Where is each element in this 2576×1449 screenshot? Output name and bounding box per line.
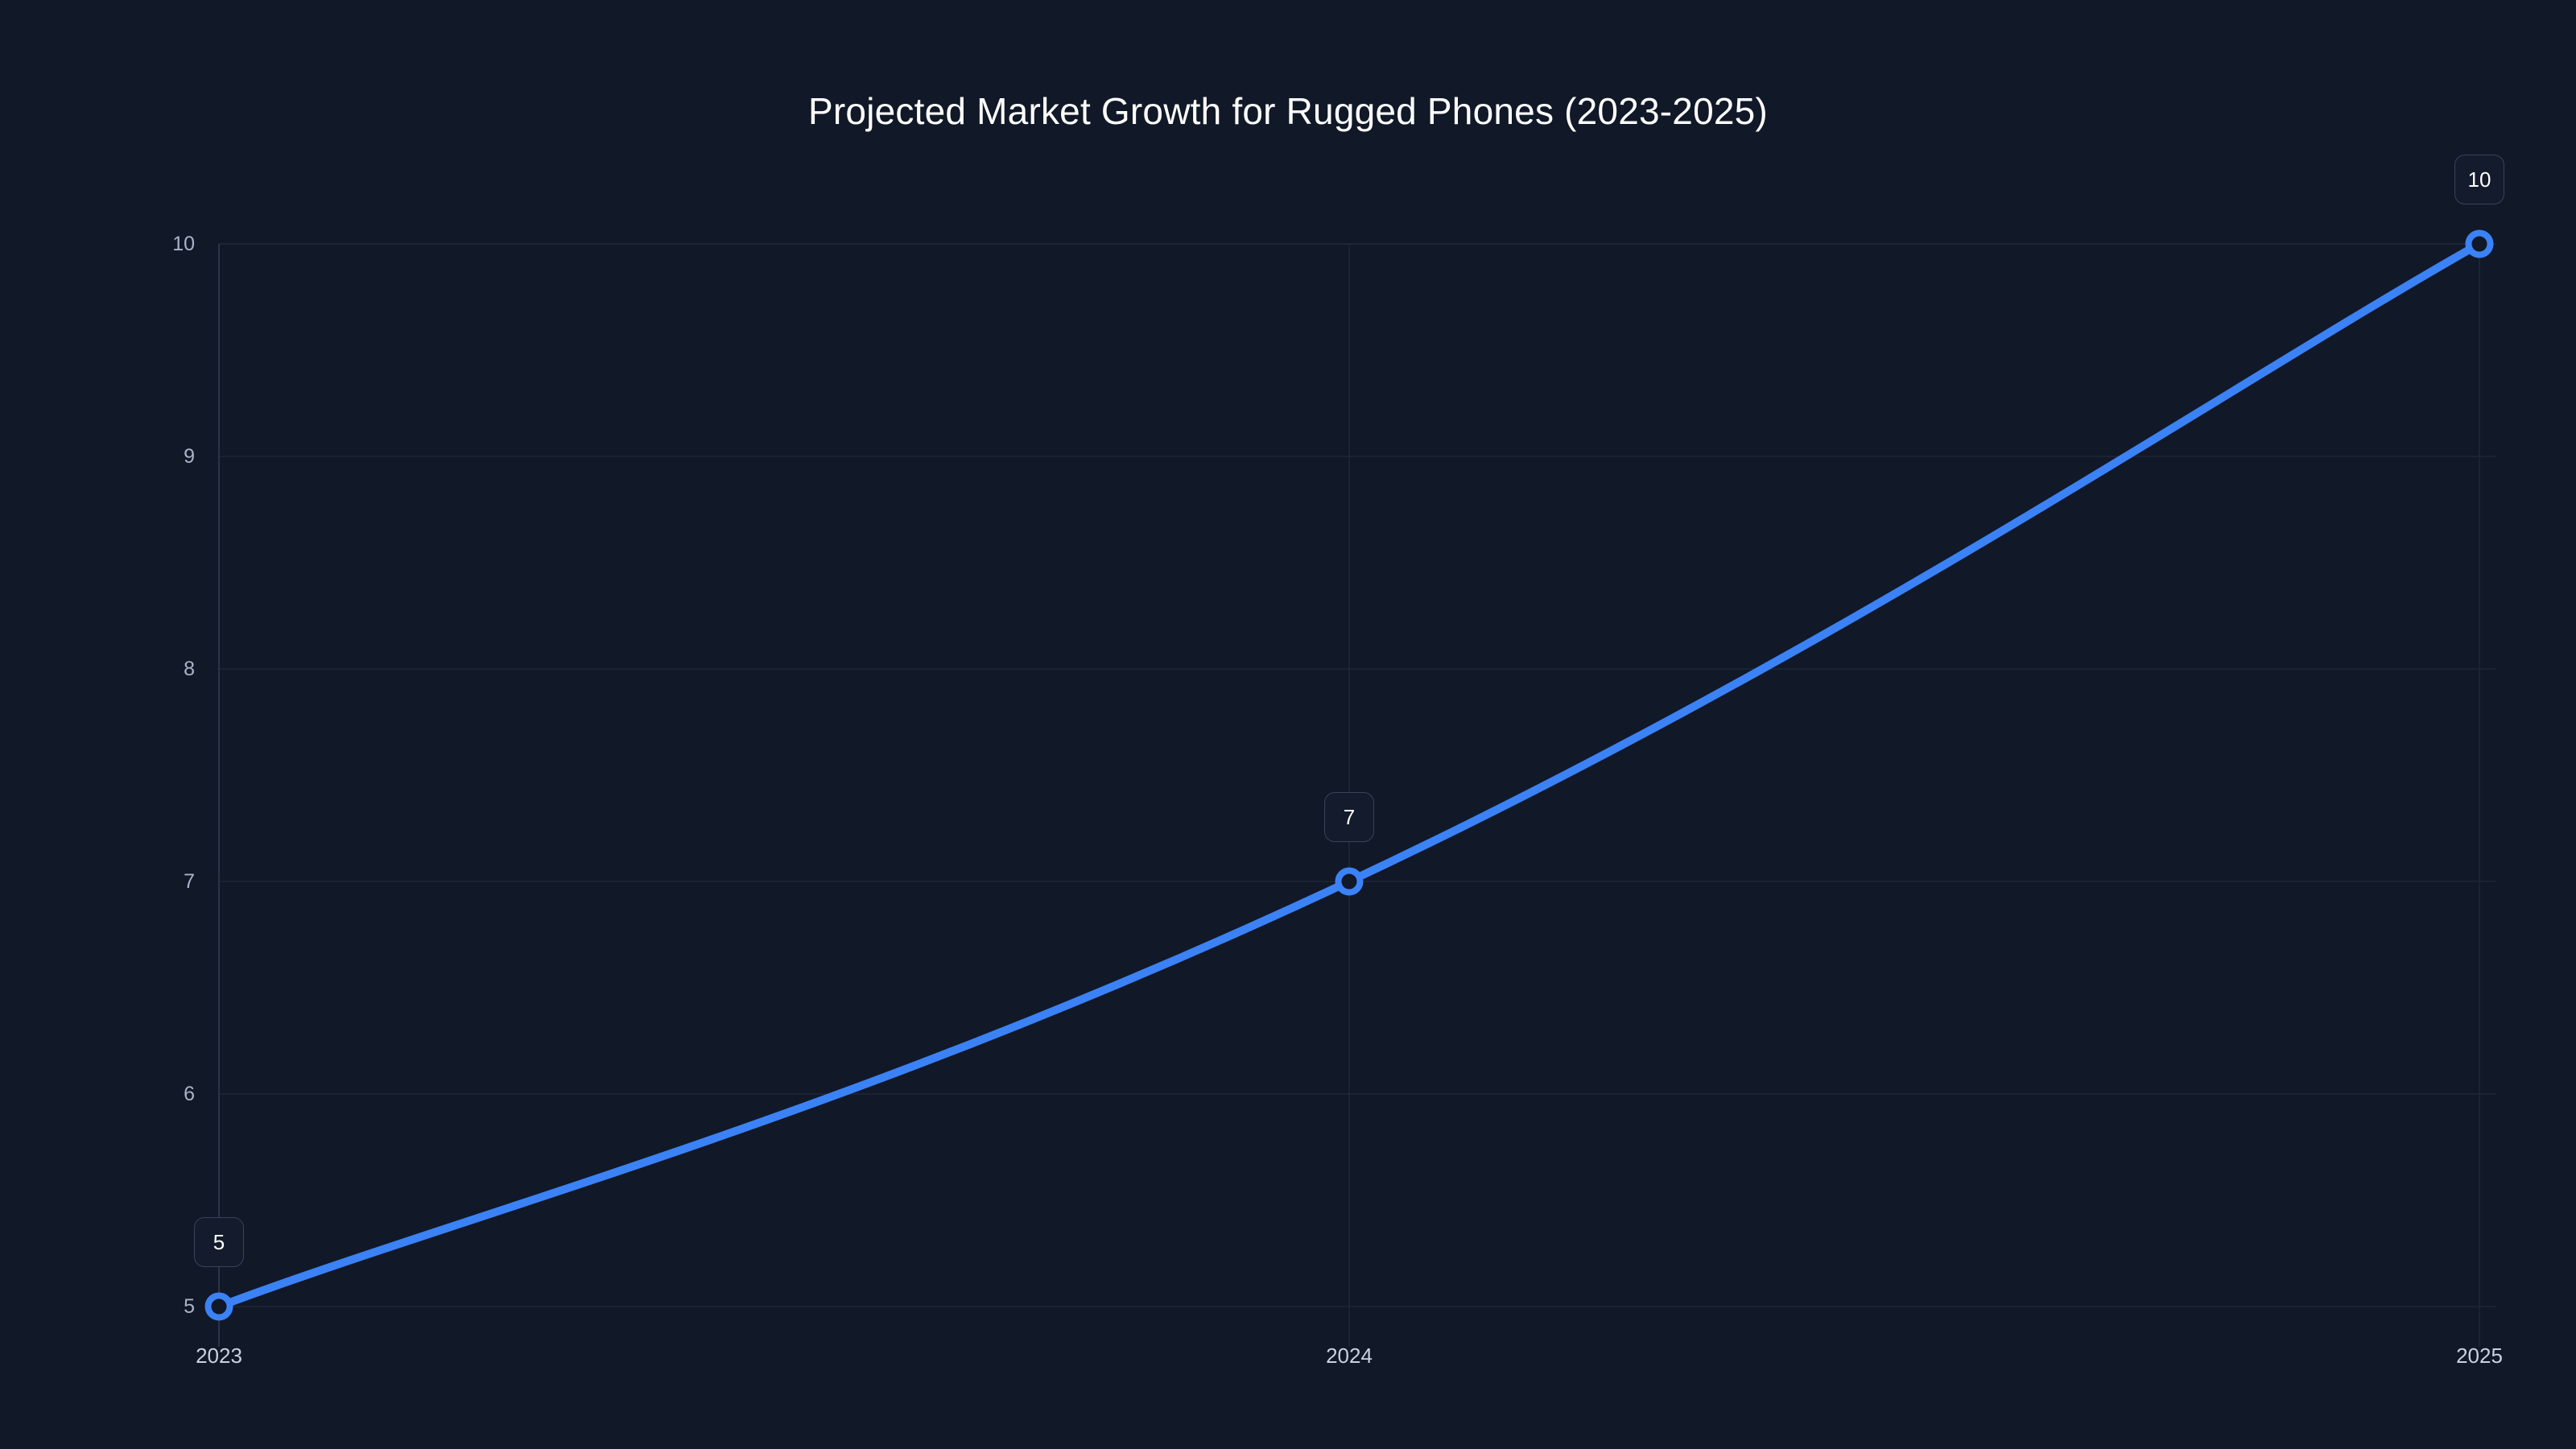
plot-area: [0, 0, 2576, 1449]
data-point-marker[interactable]: [2469, 233, 2491, 255]
data-point-value-badge: 10: [2454, 155, 2505, 204]
data-point-value-badge: 7: [1324, 792, 1374, 842]
data-point-marker[interactable]: [208, 1296, 230, 1318]
line-chart-canvas: Projected Market Growth for Rugged Phone…: [0, 0, 2576, 1449]
data-point-value-badge: 5: [194, 1217, 244, 1267]
horizontal-gridlines: [219, 244, 2495, 1307]
data-point-marker[interactable]: [1339, 871, 1360, 893]
